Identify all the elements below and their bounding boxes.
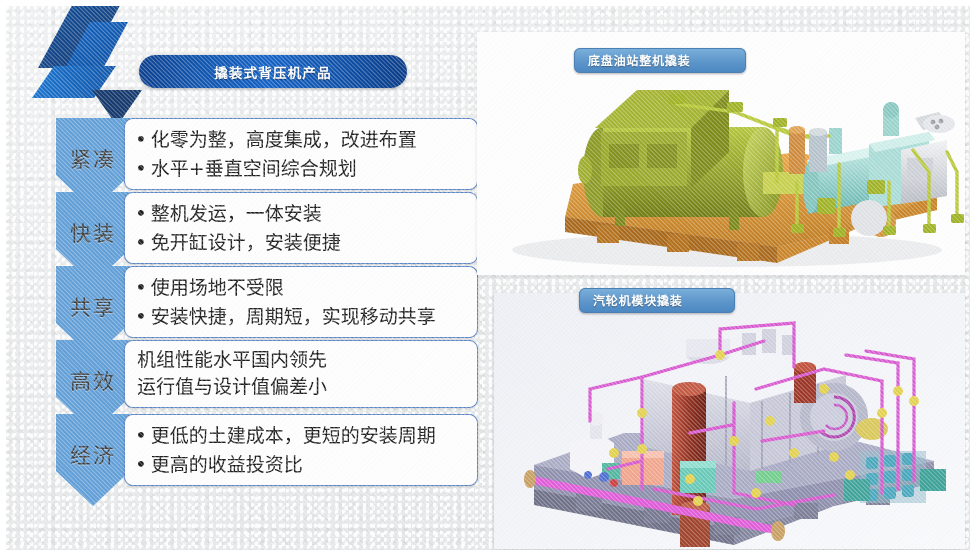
feature-bullet: 更低的土建成本，更短的安装周期	[135, 421, 465, 450]
feature-row: 高效 机组性能水平国内领先 运行值与设计值偏差小	[56, 340, 478, 410]
feature-row: 经济 更低的土建成本，更短的安装周期 更高的收益投资比	[56, 414, 478, 484]
page-title: 撬装式背压机产品	[214, 62, 332, 82]
feature-bullet: 安装快捷，周期短，实现移动共享	[135, 302, 465, 331]
feature-line: 机组性能水平国内领先	[135, 347, 465, 374]
feature-label: 共享	[70, 292, 116, 322]
feature-row: 共享 使用场地不受限 安装快捷，周期短，实现移动共享	[56, 266, 478, 336]
feature-row: 紧凑 化零为整，高度集成，改进布置 水平+垂直空间综合规划	[56, 118, 478, 188]
feature-text-box: 机组性能水平国内领先 运行值与设计值偏差小	[124, 340, 478, 408]
feature-bullet: 整机发运，一体安装	[135, 199, 465, 228]
caption-text: 底盘油站整机撬装	[588, 52, 690, 69]
image-caption-bottom: 汽轮机模块撬装	[579, 288, 735, 313]
feature-bullet: 水平+垂直空间综合规划	[135, 154, 465, 183]
feature-chevron: 经济	[56, 414, 130, 506]
feature-text-box: 化零为整，高度集成，改进布置 水平+垂直空间综合规划	[124, 118, 478, 190]
feature-label: 快装	[70, 218, 116, 248]
steam-turbine-module-skid-3d-render	[494, 293, 965, 549]
feature-row: 快装 整机发运，一体安装 免开缸设计，安装便捷	[56, 192, 478, 262]
feature-label: 紧凑	[70, 144, 116, 174]
feature-label: 高效	[70, 366, 116, 396]
feature-bullet: 免开缸设计，安装便捷	[135, 228, 465, 257]
slide-title-banner: 撬装式背压机产品	[139, 55, 407, 88]
feature-bullet: 更高的收益投资比	[135, 450, 465, 479]
feature-text-box: 更低的土建成本，更短的安装周期 更高的收益投资比	[124, 414, 478, 486]
feature-label: 经济	[70, 440, 116, 470]
caption-text: 汽轮机模块撬装	[593, 292, 683, 309]
feature-bullet: 使用场地不受限	[135, 273, 465, 302]
feature-bullet: 化零为整，高度集成，改进布置	[135, 125, 465, 154]
image-caption-top: 底盘油站整机撬装	[574, 48, 746, 73]
feature-line: 运行值与设计值偏差小	[135, 374, 465, 401]
feature-text-box: 整机发运，一体安装 免开缸设计，安装便捷	[124, 192, 478, 264]
feature-list: 紧凑 化零为整，高度集成，改进布置 水平+垂直空间综合规划 快装 整机发运，一体…	[56, 118, 478, 484]
feature-text-box: 使用场地不受限 安装快捷，周期短，实现移动共享	[124, 266, 478, 338]
slide-canvas: 撬装式背压机产品 紧凑 化零为整，高度集成，改进布置 水平+垂直空间综合规划 快…	[6, 6, 970, 550]
